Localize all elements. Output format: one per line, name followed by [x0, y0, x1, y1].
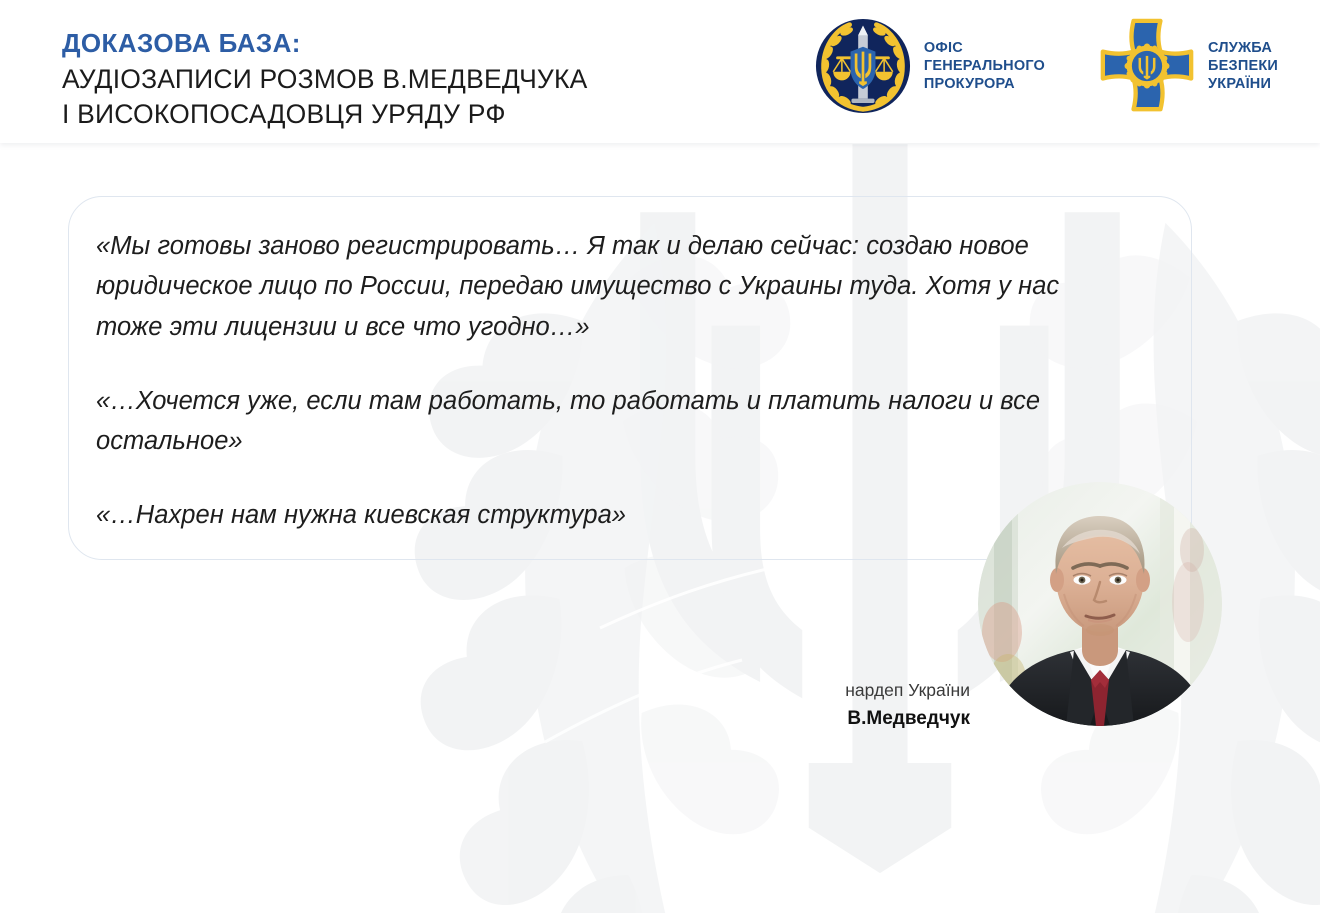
logo-security-service-ukraine: СЛУЖБА БЕЗПЕКИ УКРАЇНИ	[1099, 18, 1278, 114]
speaker-portrait	[978, 482, 1222, 726]
logo-prosecutor-general-office: ОФІС ГЕНЕРАЛЬНОГО ПРОКУРОРА	[815, 18, 1045, 114]
quote-paragraph-3: «…Нахрен нам нужна киевская структура»	[96, 495, 1066, 535]
pgo-line-2: ГЕНЕРАЛЬНОГО	[924, 57, 1045, 75]
quote-paragraph-1: «Мы готовы заново регистрировать… Я так …	[96, 226, 1066, 347]
sbu-line-3: УКРАЇНИ	[1208, 75, 1278, 93]
title-line-2: І ВИСОКОПОСАДОВЦЯ УРЯДУ РФ	[62, 97, 587, 131]
agency-logos: ОФІС ГЕНЕРАЛЬНОГО ПРОКУРОРА	[815, 18, 1278, 114]
title-line-1: АУДІОЗАПИСИ РОЗМОВ В.МЕДВЕДЧУКА	[62, 62, 587, 96]
slide-header: ДОКАЗОВА БАЗА: АУДІОЗАПИСИ РОЗМОВ В.МЕДВ…	[0, 0, 1320, 143]
quote-text-block: «Мы готовы заново регистрировать… Я так …	[96, 226, 1066, 536]
speaker-name: В.Медведчук	[0, 705, 970, 733]
slide-root: ДОКАЗОВА БАЗА: АУДІОЗАПИСИ РОЗМОВ В.МЕДВ…	[0, 0, 1320, 913]
portrait-photo	[978, 482, 1222, 726]
sbu-line-2: БЕЗПЕКИ	[1208, 57, 1278, 75]
pgo-line-3: ПРОКУРОРА	[924, 75, 1045, 93]
logo-prosecutor-general-office-text: ОФІС ГЕНЕРАЛЬНОГО ПРОКУРОРА	[924, 39, 1045, 93]
speaker-role: нардеп України	[0, 678, 970, 703]
sbu-cross-icon	[1099, 18, 1195, 114]
logo-security-service-ukraine-text: СЛУЖБА БЕЗПЕКИ УКРАЇНИ	[1208, 39, 1278, 93]
title-kicker: ДОКАЗОВА БАЗА:	[62, 27, 587, 60]
pgo-emblem-icon	[815, 18, 911, 114]
speaker-caption: нардеп України В.Медведчук	[0, 678, 970, 733]
pgo-line-1: ОФІС	[924, 39, 1045, 57]
quote-paragraph-2: «…Хочется уже, если там работать, то раб…	[96, 381, 1066, 462]
sbu-line-1: СЛУЖБА	[1208, 39, 1278, 57]
page-title: ДОКАЗОВА БАЗА: АУДІОЗАПИСИ РОЗМОВ В.МЕДВ…	[62, 27, 587, 131]
